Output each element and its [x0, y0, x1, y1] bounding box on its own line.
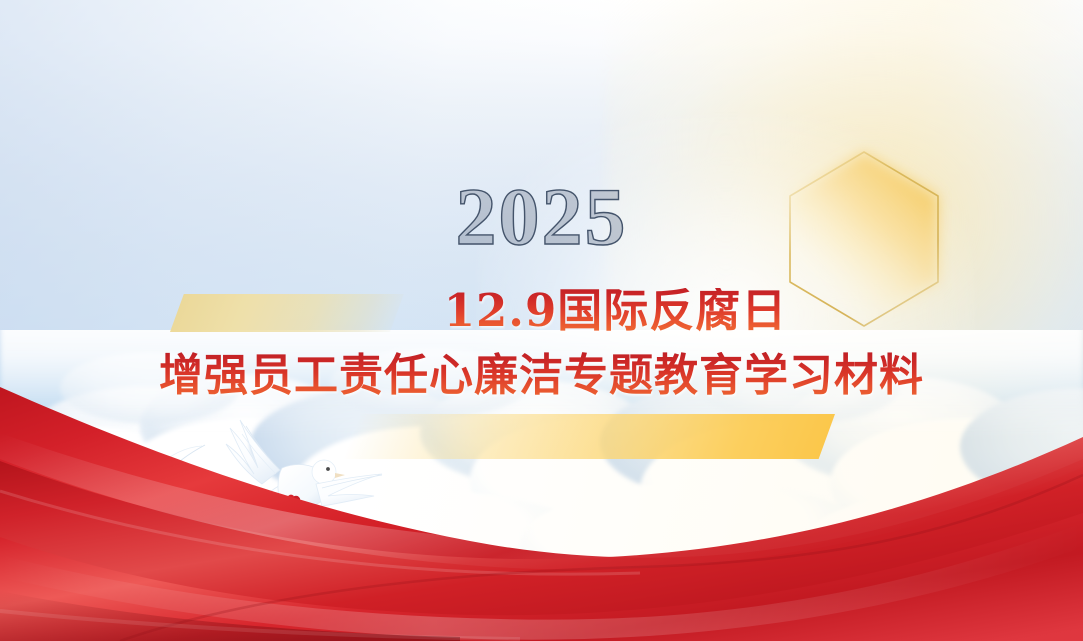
year-heading: 2025	[0, 176, 1083, 258]
page-title: 12.9国际反腐日	[0, 288, 1083, 333]
page-subtitle: 增强员工责任心廉洁专题教育学习材料	[0, 352, 1083, 400]
poster-canvas: 2025 12.9国际反腐日 增强员工责任心廉洁专题教育学习材料	[0, 0, 1083, 641]
